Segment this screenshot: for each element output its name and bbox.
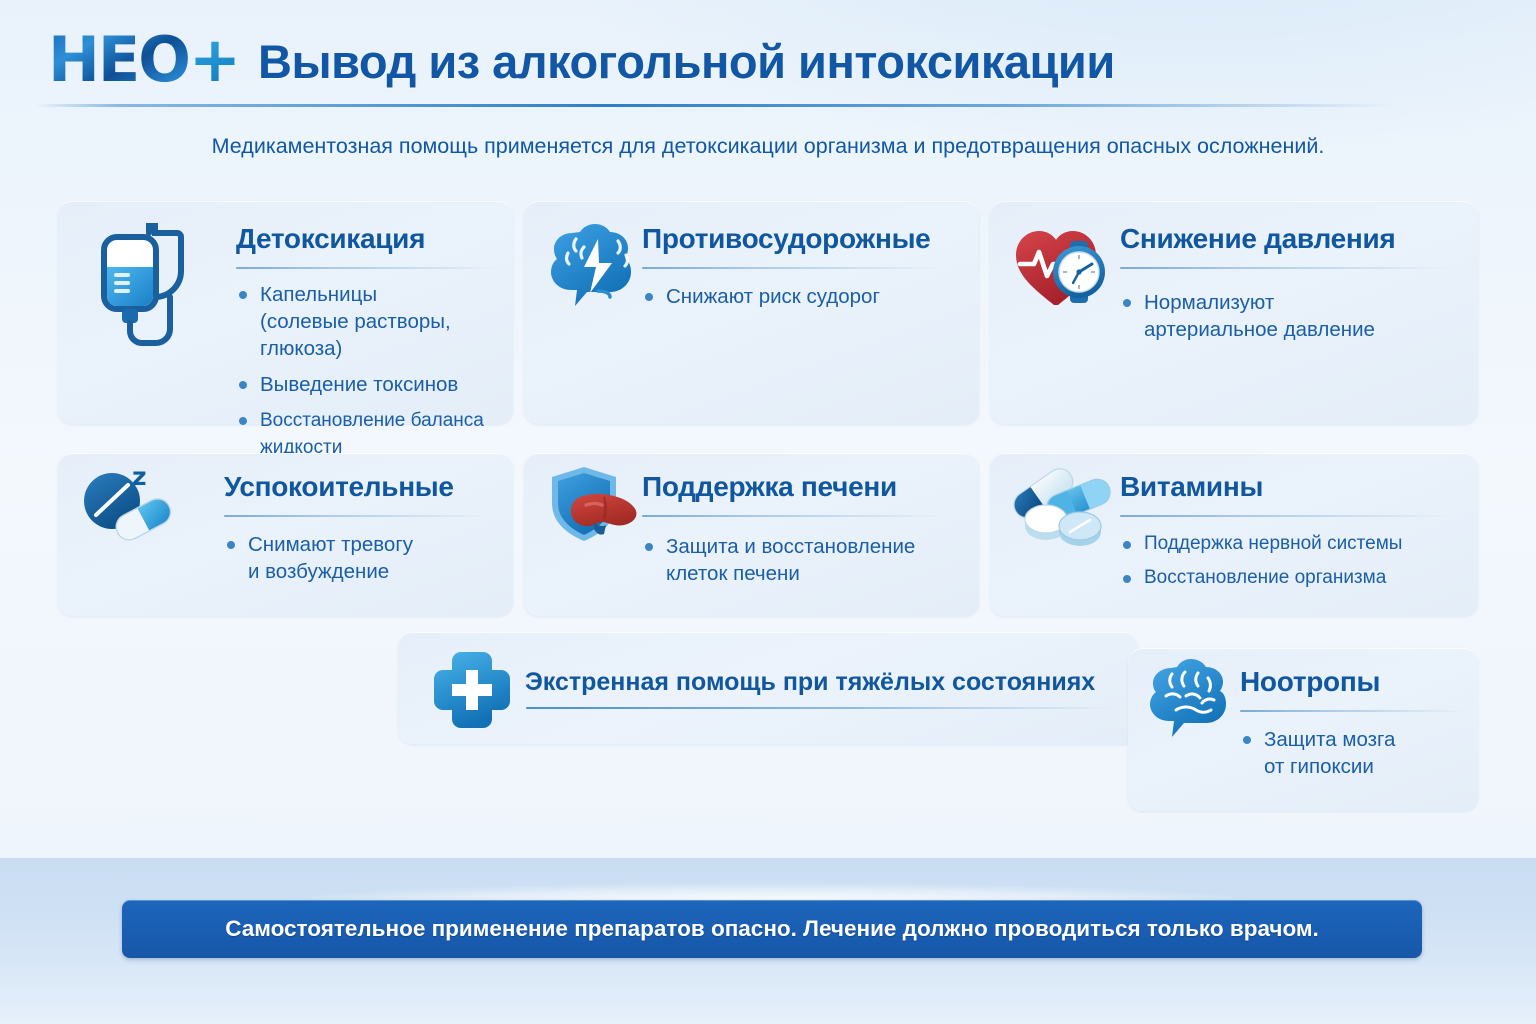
list-item: Снижают риск судорог: [642, 283, 942, 310]
list-item: Выведение токсинов: [236, 371, 502, 398]
list-item: Поддержка нервной системы: [1120, 531, 1450, 556]
brand-logo-text: НЕО: [48, 23, 189, 96]
header: НЕО+ Вывод из алкогольной интоксикации: [0, 0, 1536, 112]
card-anticonvulsants-title: Противосудорожные: [642, 223, 930, 255]
emergency-help-label: Экстренная помощь при тяжёлых состояниях: [525, 668, 1095, 697]
brain-icon: [1146, 656, 1238, 749]
card-vitamins-title: Витамины: [1120, 471, 1263, 503]
pills-capsules-icon: [998, 463, 1120, 552]
card-vitamins[interactable]: Витамины Поддержка нервной системы Восст…: [990, 453, 1478, 616]
card-nootropics[interactable]: Ноотропы Защита мозга от гипоксии: [1128, 648, 1478, 811]
card-detoxication-title: Детоксикация: [236, 223, 425, 255]
svg-text:z: z: [132, 463, 147, 491]
card-blood-pressure-title: Снижение давления: [1120, 223, 1395, 255]
list-item: Защита и восстановление клеток печени: [642, 533, 952, 587]
page-subtitle: Медикаментозная помощь применяется для д…: [0, 134, 1536, 159]
emergency-help-divider: [526, 707, 1116, 709]
card-sedatives-bullets: Снимают тревогу и возбуждение: [224, 531, 494, 594]
card-blood-pressure[interactable]: Снижение давления Нормализуют артериальн…: [990, 201, 1478, 424]
header-divider: [36, 104, 1396, 107]
card-anticonvulsants-divider: [642, 267, 940, 269]
card-sedatives-divider: [224, 515, 486, 517]
card-sedatives-title: Успокоительные: [224, 471, 454, 503]
iv-drip-icon: [86, 223, 190, 352]
card-liver-support-title: Поддержка печени: [642, 471, 897, 503]
pill-capsule-sleep-icon: z: [76, 463, 180, 552]
page-title: Вывод из алкогольной интоксикации: [258, 34, 1115, 89]
card-anticonvulsants-bullets: Снижают риск судорог: [642, 283, 942, 319]
card-vitamins-bullets: Поддержка нервной системы Восстановление…: [1120, 531, 1450, 599]
card-liver-support[interactable]: Поддержка печени Защита и восстановление…: [524, 453, 979, 616]
warning-banner: Самостоятельное применение препаратов оп…: [122, 900, 1422, 958]
card-detoxication[interactable]: Детоксикация Капельницы (солевые раствор…: [58, 201, 513, 424]
brand-logo-plus: +: [189, 23, 239, 96]
card-vitamins-divider: [1120, 515, 1450, 517]
card-blood-pressure-divider: [1120, 267, 1450, 269]
list-item: Восстановление организма: [1120, 565, 1450, 590]
medical-cross-icon: [430, 648, 514, 737]
brand-logo: НЕО+: [48, 30, 239, 90]
card-detoxication-divider: [236, 267, 498, 269]
card-detoxication-bullets: Капельницы (солевые растворы, глюкоза) В…: [236, 281, 502, 470]
list-item: Снимают тревогу и возбуждение: [224, 531, 494, 585]
heart-pressure-gauge-icon: [1008, 219, 1118, 316]
emergency-help-banner[interactable]: Экстренная помощь при тяжёлых состояниях: [398, 632, 1138, 744]
card-liver-support-bullets: Защита и восстановление клеток печени: [642, 533, 952, 596]
card-sedatives[interactable]: z Успокоительные Снимают тревогу и возбу…: [58, 453, 513, 616]
card-nootropics-bullets: Защита мозга от гипоксии: [1240, 726, 1465, 789]
card-blood-pressure-bullets: Нормализуют артериальное давление: [1120, 289, 1440, 352]
card-nootropics-title: Ноотропы: [1240, 666, 1380, 698]
list-item: Капельницы (солевые растворы, глюкоза): [236, 281, 502, 362]
list-item: Защита мозга от гипоксии: [1240, 726, 1465, 780]
card-nootropics-divider: [1240, 710, 1465, 712]
card-anticonvulsants[interactable]: Противосудорожные Снижают риск судорог: [524, 201, 979, 424]
brain-lightning-icon: [546, 219, 642, 318]
warning-banner-text: Самостоятельное применение препаратов оп…: [225, 916, 1319, 942]
list-item: Нормализуют артериальное давление: [1120, 289, 1440, 343]
shield-liver-icon: [546, 461, 652, 554]
card-liver-support-divider: [642, 515, 942, 517]
